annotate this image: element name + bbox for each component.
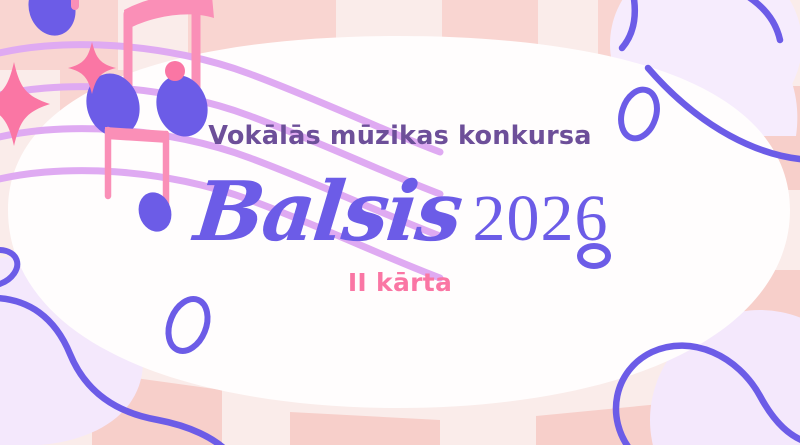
purple-ring-outline-bottom [580,246,608,266]
purple-curve-stroke-topright-corner [744,0,780,40]
purple-ring-outline-left [0,244,22,292]
purple-ring-outline-topright [615,85,663,143]
purple-curve-stroke-bottomright [616,346,800,445]
poster-canvas: Vokālās mūzikas konkursa Balsis 2026 II … [0,0,800,445]
purple-accents-layer [0,0,800,445]
purple-curve-stroke-right [648,68,800,160]
purple-curve-stroke-topright [622,0,635,48]
purple-curve-stroke-bottomleft [0,298,228,445]
purple-ring-outline-bottomleft [161,293,215,357]
